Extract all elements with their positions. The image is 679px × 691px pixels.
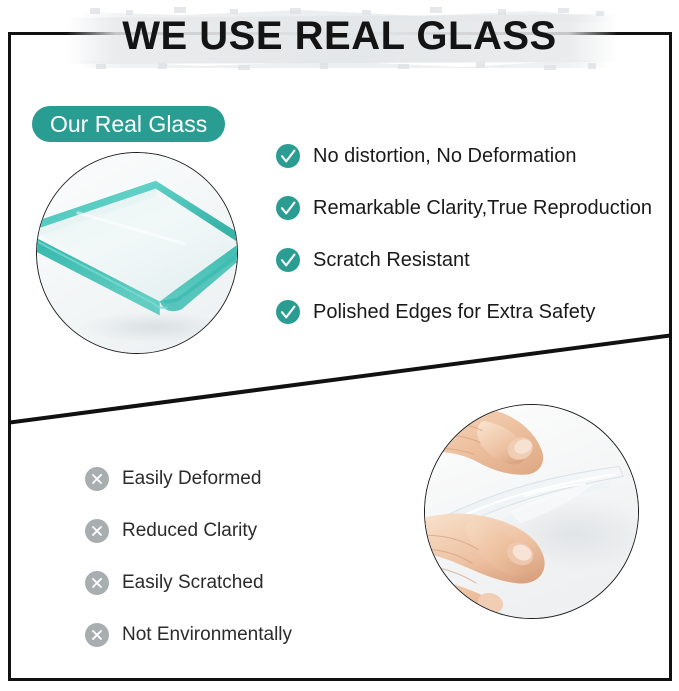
- list-item-label: Scratch Resistant: [313, 249, 470, 272]
- badge-our-real-glass: Our Real Glass: [32, 106, 225, 142]
- list-item: Remarkable Clarity,True Reproduction: [276, 182, 676, 234]
- cross-icon: [85, 623, 109, 647]
- list-item-label: Polished Edges for Extra Safety: [313, 301, 595, 324]
- comparison-infographic: WE USE REAL GLASS Our Real Glass: [0, 0, 679, 691]
- list-item: Not Environmentally: [85, 609, 425, 661]
- list-item: Polished Edges for Extra Safety: [276, 286, 676, 338]
- advantage-list: No distortion, No Deformation Remarkable…: [276, 130, 676, 338]
- cross-icon: [85, 467, 109, 491]
- real-glass-corner-photo: [36, 152, 238, 354]
- list-item-label: Easily Scratched: [122, 572, 264, 594]
- list-item-label: Reduced Clarity: [122, 520, 257, 542]
- cross-icon: [85, 571, 109, 595]
- list-item: Scratch Resistant: [276, 234, 676, 286]
- list-item-label: Remarkable Clarity,True Reproduction: [313, 197, 652, 220]
- hand-bending-plexiglass-photo: [424, 404, 639, 619]
- check-icon: [276, 300, 300, 324]
- list-item: Easily Scratched: [85, 557, 425, 609]
- disadvantage-list: Easily Deformed Reduced Clarity Easily S…: [85, 453, 425, 661]
- check-icon: [276, 196, 300, 220]
- list-item-label: Easily Deformed: [122, 468, 261, 490]
- header: WE USE REAL GLASS: [0, 0, 679, 78]
- check-icon: [276, 144, 300, 168]
- cross-icon: [85, 519, 109, 543]
- list-item-label: No distortion, No Deformation: [313, 145, 576, 168]
- check-icon: [276, 248, 300, 272]
- list-item: Easily Deformed: [85, 453, 425, 505]
- list-item-label: Not Environmentally: [122, 624, 292, 646]
- list-item: No distortion, No Deformation: [276, 130, 676, 182]
- page-title: WE USE REAL GLASS: [0, 13, 679, 59]
- list-item: Reduced Clarity: [85, 505, 425, 557]
